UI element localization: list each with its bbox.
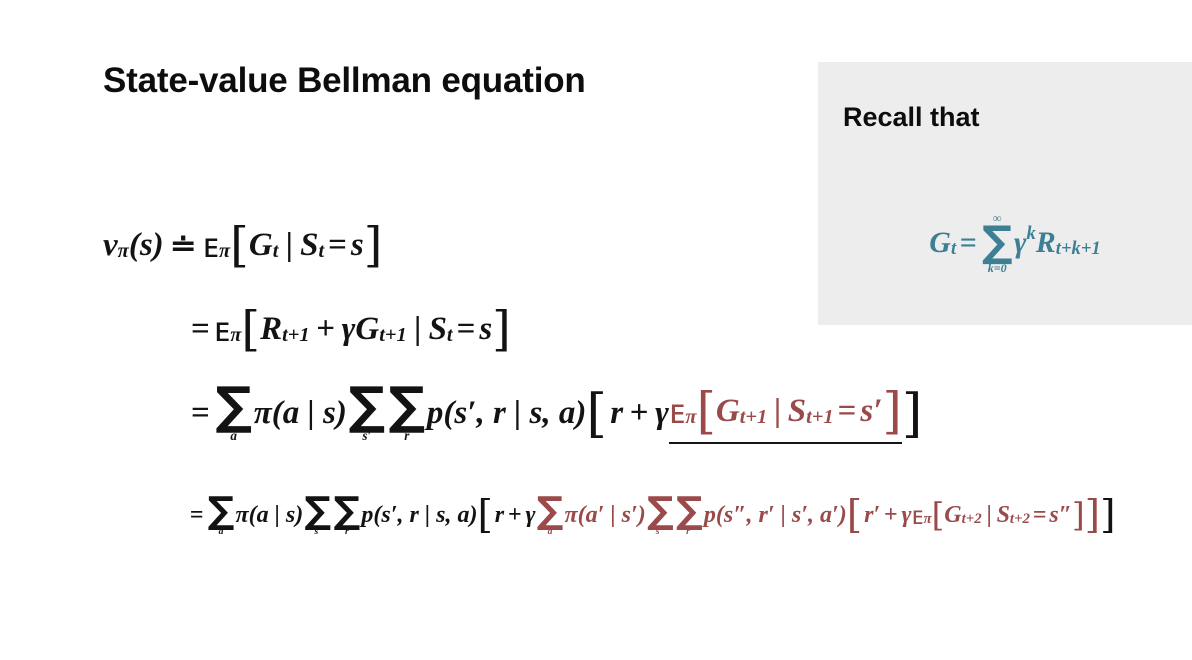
- policy-pi: π: [236, 502, 249, 529]
- equals-sign-2: =: [457, 311, 476, 348]
- gamma-symbol: γ: [1014, 226, 1026, 260]
- gamma-symbol-2: γ: [902, 502, 912, 529]
- return-subscript: t: [273, 240, 279, 263]
- right-bracket-outer: ]: [902, 383, 923, 444]
- sum-index-r: r: [345, 527, 349, 537]
- equals-sign: =: [190, 502, 204, 529]
- recall-callout-panel: Recall that Gt = ∞ ∑ k=0 γkRt+k+1: [818, 62, 1192, 325]
- return-G: G: [944, 502, 961, 529]
- left-bracket-outer: [: [586, 383, 607, 444]
- transition-probability-p: p: [704, 502, 716, 529]
- right-bracket-outer: ]: [1100, 492, 1115, 538]
- plus-sign: +: [630, 395, 649, 432]
- state-variable-S: S: [429, 311, 447, 348]
- left-bracket-inner: [: [697, 382, 716, 440]
- equals-sign: =: [960, 226, 977, 260]
- transition-arguments: (s′, r | s, a): [373, 502, 477, 529]
- value-function-v: v: [103, 227, 118, 264]
- sigma-glyph: ∑: [334, 494, 361, 527]
- policy-arguments: (a | s): [272, 395, 347, 432]
- close-paren: ): [153, 227, 164, 264]
- sigma-glyph: ∑: [304, 494, 331, 527]
- return-subscript: t+1: [740, 406, 768, 429]
- return-subscript: t+2: [962, 511, 982, 528]
- conditional-bar: |: [286, 227, 293, 264]
- sigma-glyph: ∑: [982, 224, 1013, 261]
- plus-sign: +: [316, 311, 335, 348]
- equation-line-4: = ∑ a π(a | s) ∑ s′ ∑ r p(s′, r | s, a) …: [187, 492, 1116, 538]
- return-subscript-t: t: [951, 238, 956, 260]
- state-s: s: [140, 227, 153, 264]
- equals-sign-2: =: [1033, 502, 1047, 529]
- sum-index-r-prime: r′: [686, 527, 692, 537]
- return-symbol-G: G: [929, 226, 951, 260]
- equation-line-2: = ᴇπ [ Rt+1 + γGt+1 | St = s ]: [187, 302, 511, 357]
- sigma-glyph: ∑: [208, 494, 235, 527]
- transition-arguments-next: (s″, r′ | s′, a′): [716, 502, 847, 529]
- summation-over-rewards: ∑ r: [388, 384, 425, 443]
- sigma-glyph: ∑: [647, 494, 674, 527]
- right-bracket: ]: [364, 218, 383, 273]
- summation-over-s-double-prime: ∑ s″: [647, 494, 674, 537]
- policy-pi: π: [565, 502, 578, 529]
- gamma-symbol: γ: [525, 502, 535, 529]
- conditional-bar: |: [774, 393, 781, 430]
- return-subscript: t+1: [379, 324, 407, 347]
- summation-over-rewards: ∑ r: [334, 494, 361, 537]
- expectation-subscript-pi: π: [685, 406, 696, 429]
- gamma-exponent-k: k: [1026, 223, 1035, 245]
- right-bracket: ]: [492, 302, 511, 357]
- return-G: G: [716, 393, 740, 430]
- expectation-operator-E: ᴇ: [214, 310, 231, 349]
- sum-index-r: r: [404, 429, 409, 442]
- equals-sign: =: [328, 227, 347, 264]
- expectation-operator-E: ᴇ: [912, 501, 924, 530]
- sigma-glyph: ∑: [537, 494, 564, 527]
- left-bracket-innermost: [: [932, 496, 945, 534]
- left-bracket: [: [241, 302, 260, 357]
- state-value-s: s: [479, 311, 492, 348]
- reward-subscript: t+k+1: [1056, 238, 1101, 260]
- right-bracket-inner: ]: [1085, 492, 1100, 538]
- reward-symbol-R: R: [1036, 226, 1056, 260]
- equals-sign: =: [191, 311, 210, 348]
- policy-subscript-pi: π: [118, 240, 129, 263]
- recall-heading: Recall that: [843, 102, 980, 133]
- state-subscript: t: [447, 324, 453, 347]
- sigma-glyph: ∑: [215, 384, 252, 429]
- expectation-operator-E: ᴇ: [669, 392, 686, 431]
- right-bracket-innermost: ]: [1072, 496, 1085, 534]
- return-G: G: [355, 311, 379, 348]
- left-bracket-inner: [: [847, 492, 862, 538]
- equals-sign: =: [191, 395, 210, 432]
- left-bracket: [: [230, 218, 249, 273]
- sigma-glyph: ∑: [676, 494, 703, 527]
- open-paren: (: [129, 227, 140, 264]
- sigma-glyph: ∑: [388, 384, 425, 429]
- expectation-operator-E: ᴇ: [202, 226, 219, 265]
- policy-arguments-next: (a′ | s′): [578, 502, 646, 529]
- equation-line-1: vπ(s) ≐ ᴇπ [ Gt | St = s ]: [103, 218, 382, 273]
- transition-arguments: (s′, r | s, a): [443, 395, 586, 432]
- sum-index-a: a: [548, 527, 553, 537]
- defined-equal-sign: ≐: [170, 228, 196, 264]
- sum-index-s-prime: s′: [315, 527, 321, 537]
- page-title: State-value Bellman equation: [103, 61, 586, 101]
- state-variable-S: S: [788, 393, 806, 430]
- transition-probability-p: p: [361, 502, 373, 529]
- gamma-symbol: γ: [342, 311, 356, 348]
- sum-lower-limit: k=0: [988, 262, 1007, 274]
- conditional-bar: |: [414, 311, 421, 348]
- expectation-subscript-pi: π: [924, 511, 932, 528]
- sum-index-a: a: [230, 429, 237, 442]
- plus-sign: +: [508, 502, 522, 529]
- summation-over-r-prime: ∑ r′: [676, 494, 703, 537]
- equals-sign-2: =: [838, 393, 857, 430]
- sum-index-s-prime: s′: [362, 429, 371, 442]
- recall-formula: Gt = ∞ ∑ k=0 γkRt+k+1: [850, 212, 1180, 274]
- reward-r: r: [610, 395, 623, 432]
- policy-pi: π: [254, 395, 272, 432]
- state-s-double-prime: s″: [1049, 502, 1072, 529]
- sigma-glyph: ∑: [348, 384, 385, 429]
- left-bracket-outer: [: [477, 492, 492, 538]
- state-subscript: t+2: [1010, 511, 1030, 528]
- state-subscript: t+1: [806, 406, 834, 429]
- plus-sign-2: +: [884, 502, 898, 529]
- conditional-bar: |: [986, 502, 991, 529]
- gamma-symbol: γ: [655, 395, 669, 432]
- return-G: G: [249, 227, 273, 264]
- reward-subscript: t+1: [282, 324, 310, 347]
- sum-index-s-double-prime: s″: [656, 527, 665, 537]
- expectation-subscript-pi: π: [219, 240, 230, 263]
- summation-over-next-states: ∑ s′: [304, 494, 331, 537]
- summation-over-actions: ∑ a: [215, 384, 252, 443]
- summation-operator: ∞ ∑ k=0: [982, 212, 1013, 274]
- state-value-s: s: [351, 227, 364, 264]
- summation-over-next-actions: ∑ a: [537, 494, 564, 537]
- summation-over-next-states: ∑ s′: [348, 384, 385, 443]
- highlighted-recursive-expectation: ᴇπ [ Gt+1 | St+1 = s′ ]: [669, 382, 902, 444]
- summation-over-actions: ∑ a: [208, 494, 235, 537]
- policy-arguments: (a | s): [249, 502, 304, 529]
- reward-r: r: [495, 502, 504, 529]
- reward-R: R: [260, 311, 282, 348]
- expanded-recursive-term: ∑ a π(a′ | s′) ∑ s″ ∑ r′ p(s″, r′ | s′, …: [535, 492, 1100, 538]
- state-variable-S: S: [300, 227, 318, 264]
- transition-probability-p: p: [427, 395, 444, 432]
- right-bracket-inner: ]: [883, 382, 902, 440]
- equation-line-3: = ∑ a π(a | s) ∑ s′ ∑ r p(s′, r | s, a) …: [187, 382, 922, 444]
- state-variable-S: S: [997, 502, 1010, 529]
- state-subscript: t: [319, 240, 325, 263]
- reward-r-prime: r′: [864, 502, 880, 529]
- next-state-s-prime: s′: [860, 393, 882, 430]
- sum-index-a: a: [219, 527, 224, 537]
- expectation-subscript-pi: π: [230, 324, 241, 347]
